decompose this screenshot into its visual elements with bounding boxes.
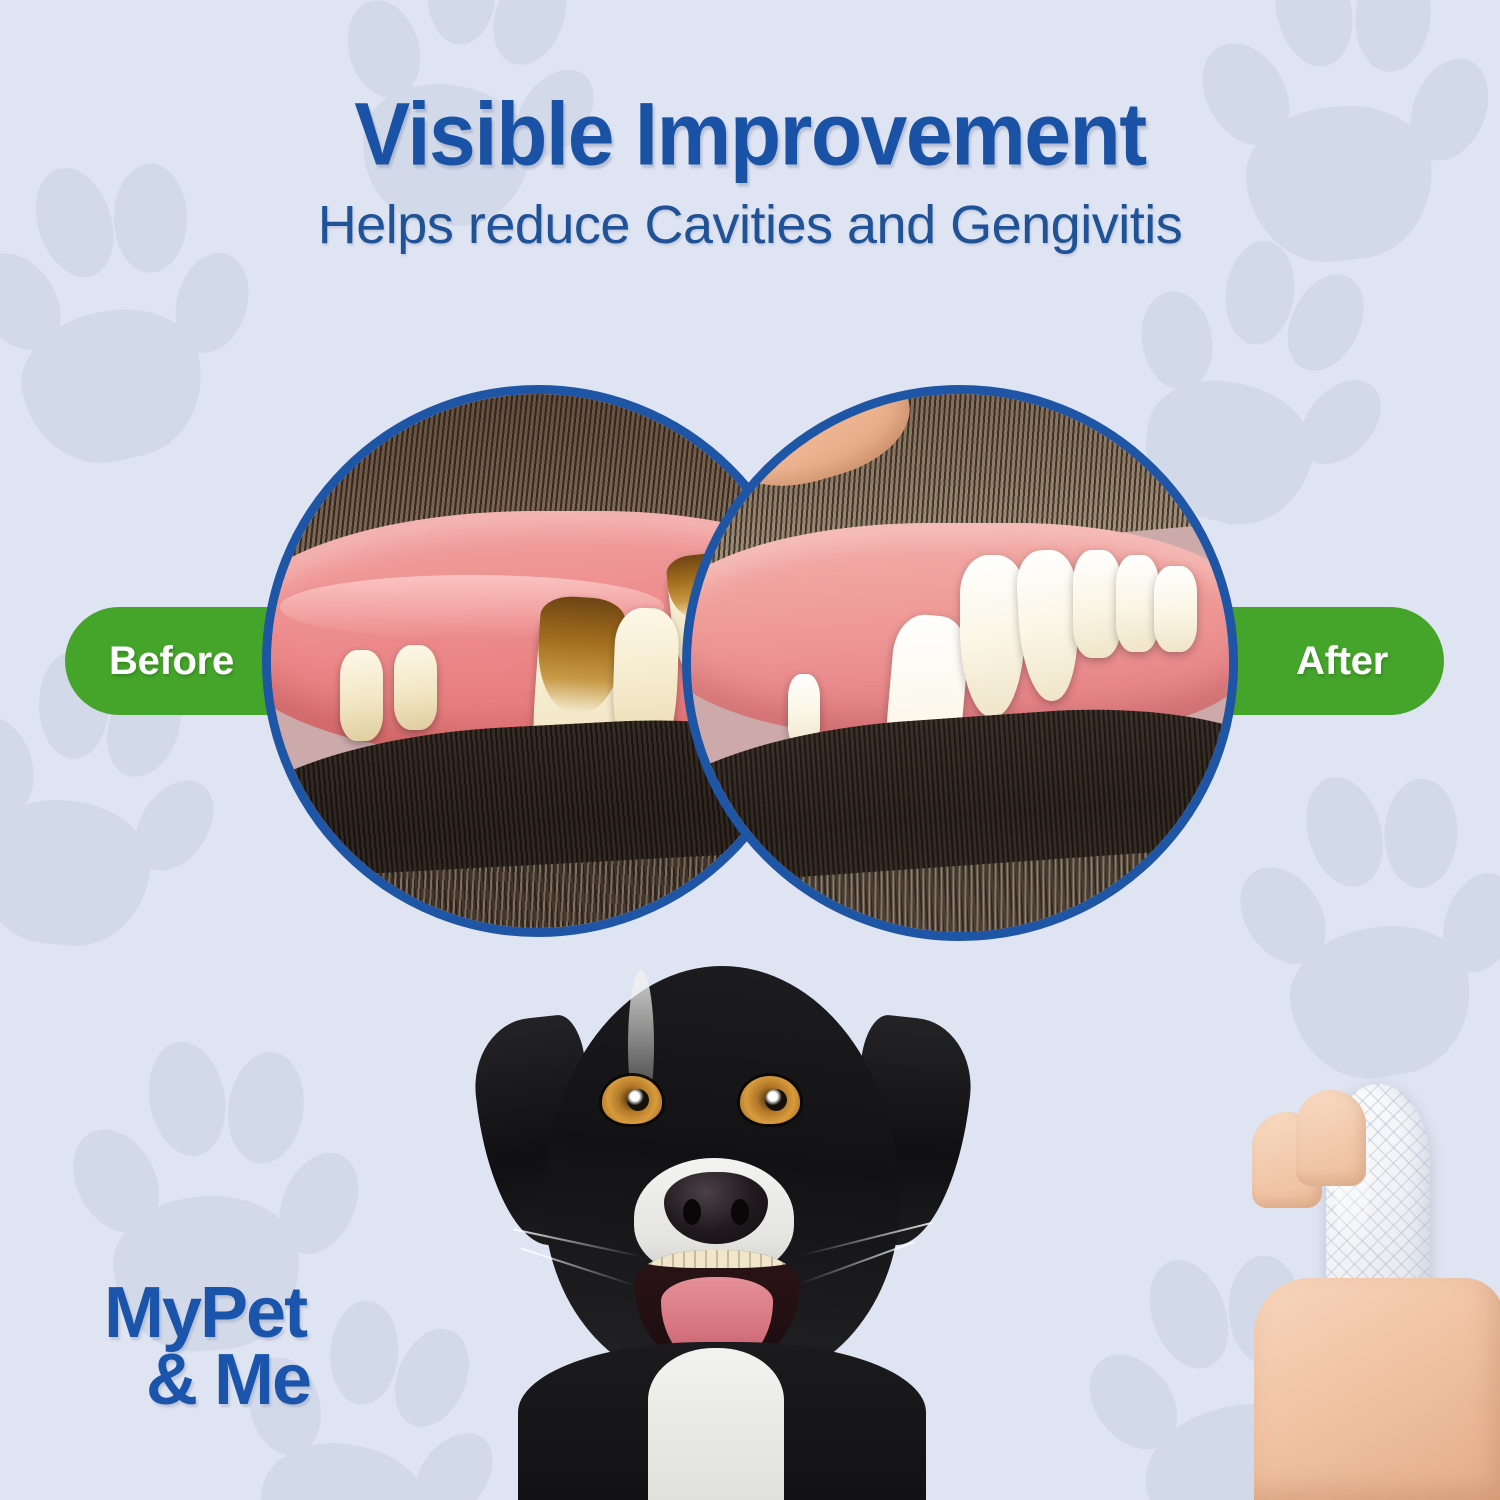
finger-toothbrush-photo [1244, 1082, 1500, 1500]
brand-logo: MyPet & Me [104, 1282, 310, 1413]
brand-logo-line2: & Me [146, 1349, 310, 1412]
brand-logo-line1: MyPet [104, 1282, 310, 1345]
before-badge-label: Before [109, 639, 234, 684]
header-block: Visible Improvement Helps reduce Cavitie… [0, 92, 1500, 256]
before-tooth [394, 645, 437, 730]
ad-canvas: Visible Improvement Helps reduce Cavitie… [0, 0, 1500, 1500]
after-lower-jaw [691, 693, 1229, 932]
after-tooth [1073, 550, 1121, 658]
hand [1254, 1278, 1500, 1500]
hand-knuckle [1296, 1090, 1366, 1186]
before-tooth [340, 650, 383, 741]
after-tooth [1116, 555, 1159, 652]
page-title: Visible Improvement [0, 89, 1500, 180]
after-photo [682, 385, 1238, 941]
page-subtitle: Helps reduce Cavities and Gengivitis [0, 194, 1500, 256]
after-tooth [1154, 566, 1197, 652]
after-photo-content [691, 394, 1229, 932]
after-tooth [960, 555, 1025, 716]
after-badge-label: After [1296, 639, 1388, 684]
